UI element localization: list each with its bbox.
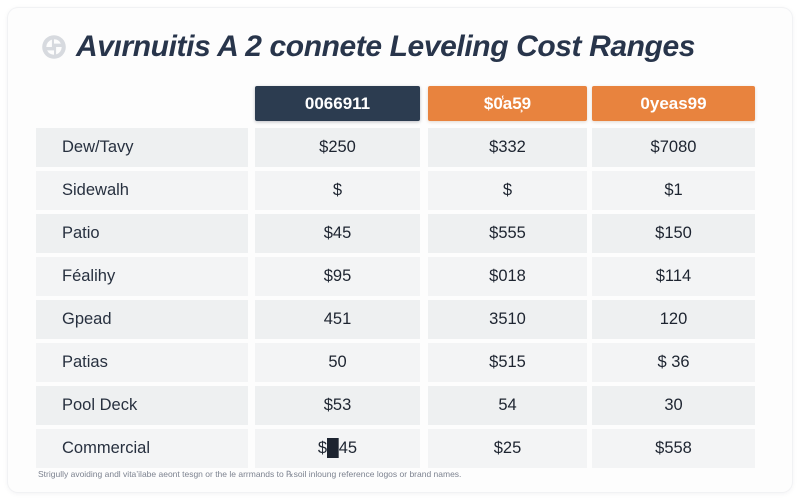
row-label: Pool Deck [36, 386, 248, 425]
row-label: Dew/Tavy [36, 128, 248, 167]
table-header-row: 0066911 $0̾a5̹9 0yeaѕ99 [8, 80, 792, 126]
row-value-col0: $45 [255, 214, 420, 253]
row-value-col2: $558 [592, 429, 755, 468]
row-value-col1: $018 [428, 257, 587, 296]
row-value-col2: $1 [592, 171, 755, 210]
row-value-col1: $25 [428, 429, 587, 468]
row-value-col2: 30 [592, 386, 755, 425]
header-cell-col0[interactable]: 0066911 [255, 86, 420, 121]
row-label: Patias [36, 343, 248, 382]
table-row: Patias 50 $515 $ 36 [8, 341, 792, 384]
row-value-col2: $114 [592, 257, 755, 296]
row-value-col1: 54 [428, 386, 587, 425]
title-bar: Avırnuitis A 2 connete Leveling Cost Ran… [8, 22, 792, 70]
row-value-col1: $555 [428, 214, 587, 253]
row-value-col0: $95 [255, 257, 420, 296]
header-cell-col1[interactable]: $0̾a5̹9 [428, 86, 587, 121]
circular-logo-icon [40, 33, 68, 61]
table-row: Féalihy $95 $018 $114 [8, 255, 792, 298]
header-cell-col2[interactable]: 0yeaѕ99 [592, 86, 755, 121]
page-title: Avırnuitis A 2 connete Leveling Cost Ran… [76, 24, 776, 70]
cost-ranges-table: 0066911 $0̾a5̹9 0yeaѕ99 Dew/Tavy $250 $3… [8, 80, 792, 470]
footnote-text: Strigully avoiding andl vita’ilabe aeont… [38, 468, 768, 480]
row-value-col0: 50 [255, 343, 420, 382]
table-row: Sidewalh $ $ $1 [8, 169, 792, 212]
row-value-col1: $ [428, 171, 587, 210]
row-value-col0: $53 [255, 386, 420, 425]
row-value-col1: $332 [428, 128, 587, 167]
row-value-col2: 120 [592, 300, 755, 339]
row-value-col0: $ [255, 171, 420, 210]
row-label: Gpead [36, 300, 248, 339]
table-row: Dew/Tavy $250 $332 $7080 [8, 126, 792, 169]
table-row: Gpead 451 3510 120 [8, 298, 792, 341]
table-row: Pool Deck $53 54 30 [8, 384, 792, 427]
cost-table-card: Avırnuitis A 2 connete Leveling Cost Ran… [8, 8, 792, 492]
table-row: Commercial $█45 $25 $558 [8, 427, 792, 470]
row-value-col0: $250 [255, 128, 420, 167]
row-label: Féalihy [36, 257, 248, 296]
row-label: Sidewalh [36, 171, 248, 210]
row-value-col2: $7080 [592, 128, 755, 167]
table-row: Patio $45 $555 $150 [8, 212, 792, 255]
row-value-col2: $150 [592, 214, 755, 253]
row-value-col1: 3510 [428, 300, 587, 339]
row-label: Patio [36, 214, 248, 253]
header-cell-category [36, 86, 248, 121]
row-value-col0: 451 [255, 300, 420, 339]
row-value-col1: $515 [428, 343, 587, 382]
row-value-col0: $█45 [255, 429, 420, 468]
row-label: Commercial [36, 429, 248, 468]
row-value-col2: $ 36 [592, 343, 755, 382]
